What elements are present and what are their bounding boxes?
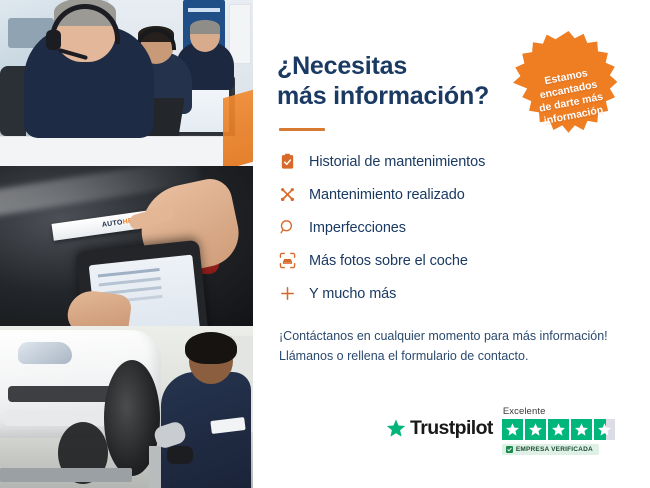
star-3: [548, 419, 569, 440]
magnifier-icon: [279, 219, 309, 236]
feature-item-much-more: Y mucho más: [279, 277, 628, 310]
trustpilot-star-icon: [385, 418, 407, 439]
photo-column: AUTOHERO: [0, 0, 253, 488]
photo-call-center: [0, 0, 253, 166]
feature-label: Más fotos sobre el coche: [309, 253, 468, 269]
feature-item-more-photos: Más fotos sobre el coche: [279, 244, 628, 277]
office-chair: [0, 66, 26, 136]
contact-paragraph: ¡Contáctanos en cualquier momento para m…: [279, 326, 624, 367]
trustpilot-rating: Excelente: [502, 406, 615, 455]
car-headlight: [18, 342, 72, 364]
star-1: [502, 419, 523, 440]
star-rating: [502, 419, 615, 440]
rating-label: Excelente: [503, 406, 546, 417]
feature-list: Historial de mantenimientos Mantenimient…: [279, 145, 628, 310]
clipboard-check-icon: [279, 153, 309, 170]
plus-icon: [279, 285, 309, 302]
verified-badge: EMPRESA VERIFICADA: [502, 444, 599, 455]
car-grille: [8, 386, 116, 402]
badge-text: Estamos encantados de darte más informac…: [520, 63, 620, 131]
photo-car-inspection: AUTOHERO: [0, 166, 253, 326]
title-divider: [279, 128, 325, 131]
mechanic-hair: [185, 332, 237, 364]
desk-surface: [0, 136, 253, 166]
feature-label: Historial de mantenimientos: [309, 154, 485, 170]
mechanic-tool: [167, 446, 193, 464]
orange-signage: [223, 90, 253, 166]
feature-label: Mantenimiento realizado: [309, 187, 465, 203]
badge-content: Estamos encantados de darte más informac…: [498, 19, 640, 161]
headline-line-1: ¿Necesitas: [277, 52, 407, 80]
verified-label: EMPRESA VERIFICADA: [516, 446, 593, 453]
wall-poster: [229, 4, 251, 64]
star-2: [525, 419, 546, 440]
car-lift-arm: [0, 468, 132, 482]
agent-three-hair: [190, 20, 220, 34]
tools-icon: [279, 186, 309, 203]
agent-one-earcup: [46, 30, 61, 50]
feature-item-maintenance-done: Mantenimiento realizado: [279, 178, 628, 211]
star-4: [571, 419, 592, 440]
photo-mechanic-workshop: [0, 326, 253, 488]
paragraph-line-2: Llámanos o rellena el formulario de cont…: [279, 349, 528, 363]
promo-banner: AUTOHERO: [0, 0, 650, 488]
feature-item-imperfections: Imperfecciones: [279, 211, 628, 244]
page-title: ¿Necesitas más información?: [277, 52, 512, 111]
feature-label: Y mucho más: [309, 286, 396, 302]
trustpilot-logo: Trustpilot: [385, 406, 493, 440]
support-badge: Estamos encantados de darte más informac…: [508, 29, 629, 150]
headline-line-2: más información?: [277, 82, 489, 110]
trustpilot-widget[interactable]: Trustpilot Excelente: [385, 406, 615, 455]
verified-check-icon: [506, 446, 513, 453]
trustpilot-wordmark: Trustpilot: [410, 417, 493, 440]
car-scan-icon: [279, 252, 309, 269]
feature-label: Imperfecciones: [309, 220, 406, 236]
content-panel: ¿Necesitas más información? Estamos: [253, 0, 650, 488]
paragraph-line-1: ¡Contáctanos en cualquier momento para m…: [279, 329, 608, 343]
star-5-partial: [594, 419, 615, 440]
